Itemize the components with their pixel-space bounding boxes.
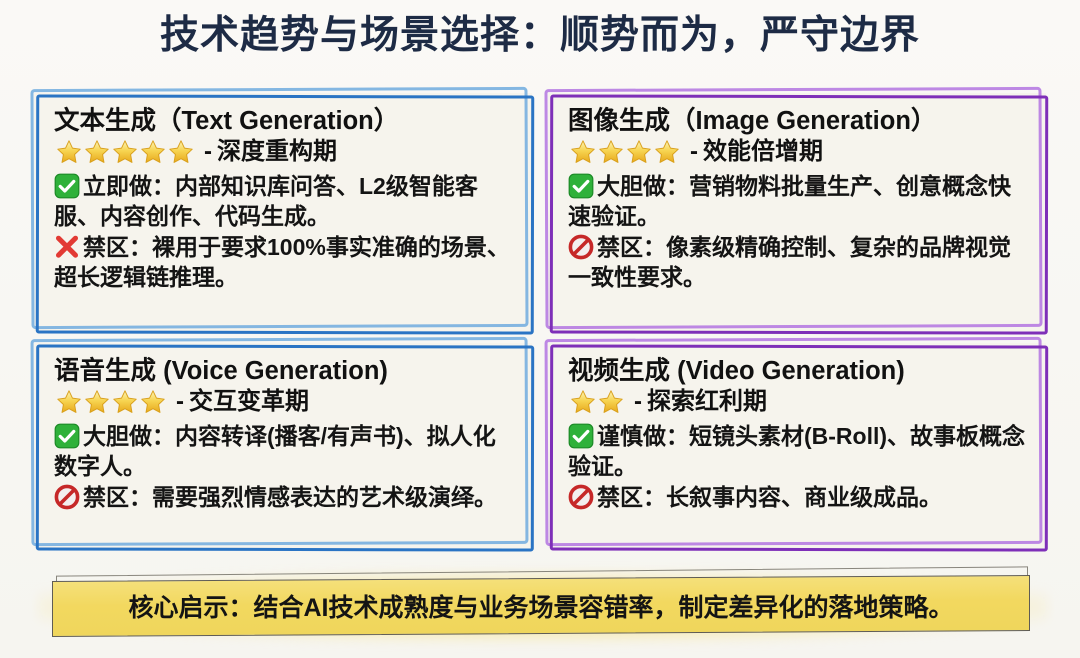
phase-label: 效能倍增期 <box>703 140 823 164</box>
prohibit-icon <box>568 484 594 510</box>
card-content: 视频生成 (Video Generation)-探索红利期谨慎做：短镜头素材(B… <box>568 356 1032 513</box>
star-rating <box>568 388 624 416</box>
card-line: 大胆做：营销物料批量生产、创意概念快速验证。 <box>568 172 1032 232</box>
card-image-generation: 图像生成（Image Generation）-效能倍增期大胆做：营销物料批量生产… <box>548 93 1046 331</box>
star-icon <box>596 388 626 416</box>
star-icon <box>568 388 598 416</box>
line-label: 大胆做： <box>597 173 689 199</box>
line-label: 禁区： <box>83 484 152 510</box>
card-line: 禁区：需要强烈情感表达的艺术级演绎。 <box>54 483 518 513</box>
maturity-rating: -探索红利期 <box>568 388 1032 416</box>
star-icon <box>652 138 682 166</box>
key-insight-banner: 核心启示：结合AI技术成熟度与业务场景容错率，制定差异化的落地策略。 <box>52 578 1030 634</box>
star-icon <box>110 138 140 166</box>
banner-text: 核心启示：结合AI技术成熟度与业务场景容错率，制定差异化的落地策略。 <box>52 578 1030 634</box>
card-text-generation: 文本生成（Text Generation）-深度重构期立即做：内部知识库问答、L… <box>34 93 532 331</box>
phase-label: 交互变革期 <box>189 390 309 414</box>
star-icon <box>82 138 112 166</box>
line-label: 禁区： <box>83 234 152 260</box>
star-rating <box>568 138 680 166</box>
rating-separator: - <box>634 390 642 414</box>
star-icon <box>82 388 112 416</box>
star-icon <box>110 388 140 416</box>
star-icon <box>166 138 196 166</box>
slide-root: 技术趋势与场景选择：顺势而为，严守边界 文本生成（Text Generation… <box>0 0 1080 658</box>
line-label: 禁区： <box>597 484 666 510</box>
line-label: 大胆做： <box>83 423 175 449</box>
card-line: 大胆做：内容转译(播客/有声书)、拟人化数字人。 <box>54 422 518 482</box>
phase-label: 深度重构期 <box>217 140 337 164</box>
check-icon <box>568 173 594 199</box>
line-text: 需要强烈情感表达的艺术级演绎。 <box>152 484 497 510</box>
card-content: 文本生成（Text Generation）-深度重构期立即做：内部知识库问答、L… <box>54 106 518 293</box>
prohibit-icon <box>54 484 80 510</box>
maturity-rating: -效能倍增期 <box>568 138 1032 166</box>
card-line: 谨慎做：短镜头素材(B-Roll)、故事板概念验证。 <box>568 422 1032 482</box>
phase-label: 探索红利期 <box>647 390 767 414</box>
star-icon <box>624 138 654 166</box>
card-line: 禁区：裸用于要求100%事实准确的场景、超长逻辑链推理。 <box>54 233 518 293</box>
line-label: 禁区： <box>597 234 666 260</box>
star-rating <box>54 138 194 166</box>
star-icon <box>54 138 84 166</box>
maturity-rating: -深度重构期 <box>54 138 518 166</box>
card-line: 禁区：长叙事内容、商业级成品。 <box>568 483 1032 513</box>
line-label: 立即做： <box>83 173 175 199</box>
rating-separator: - <box>176 390 184 414</box>
card-content: 图像生成（Image Generation）-效能倍增期大胆做：营销物料批量生产… <box>568 106 1032 293</box>
page-title: 技术趋势与场景选择：顺势而为，严守边界 <box>160 12 920 61</box>
card-title: 图像生成（Image Generation） <box>568 106 1032 136</box>
card-video-generation: 视频生成 (Video Generation)-探索红利期谨慎做：短镜头素材(B… <box>548 343 1046 548</box>
check-icon <box>54 173 80 199</box>
card-voice-generation: 语音生成 (Voice Generation)-交互变革期大胆做：内容转译(播客… <box>34 343 532 548</box>
check-icon <box>54 423 80 449</box>
star-rating <box>54 388 166 416</box>
slide-title-container: 技术趋势与场景选择：顺势而为，严守边界 <box>0 12 1080 61</box>
card-grid: 文本生成（Text Generation）-深度重构期立即做：内部知识库问答、L… <box>34 93 1046 548</box>
card-line: 立即做：内部知识库问答、L2级智能客服、内容创作、代码生成。 <box>54 172 518 232</box>
card-title: 视频生成 (Video Generation) <box>568 356 1032 386</box>
star-icon <box>138 388 168 416</box>
card-title: 语音生成 (Voice Generation) <box>54 356 518 386</box>
rating-separator: - <box>204 140 212 164</box>
maturity-rating: -交互变革期 <box>54 388 518 416</box>
line-text: 长叙事内容、商业级成品。 <box>666 484 942 510</box>
card-content: 语音生成 (Voice Generation)-交互变革期大胆做：内容转译(播客… <box>54 356 518 513</box>
cross-icon <box>54 234 80 260</box>
rating-separator: - <box>690 140 698 164</box>
star-icon <box>54 388 84 416</box>
star-icon <box>568 138 598 166</box>
star-icon <box>138 138 168 166</box>
line-label: 谨慎做： <box>597 423 689 449</box>
prohibit-icon <box>568 234 594 260</box>
check-icon <box>568 423 594 449</box>
star-icon <box>596 138 626 166</box>
card-line: 禁区：像素级精确控制、复杂的品牌视觉一致性要求。 <box>568 233 1032 293</box>
card-title: 文本生成（Text Generation） <box>54 106 518 136</box>
